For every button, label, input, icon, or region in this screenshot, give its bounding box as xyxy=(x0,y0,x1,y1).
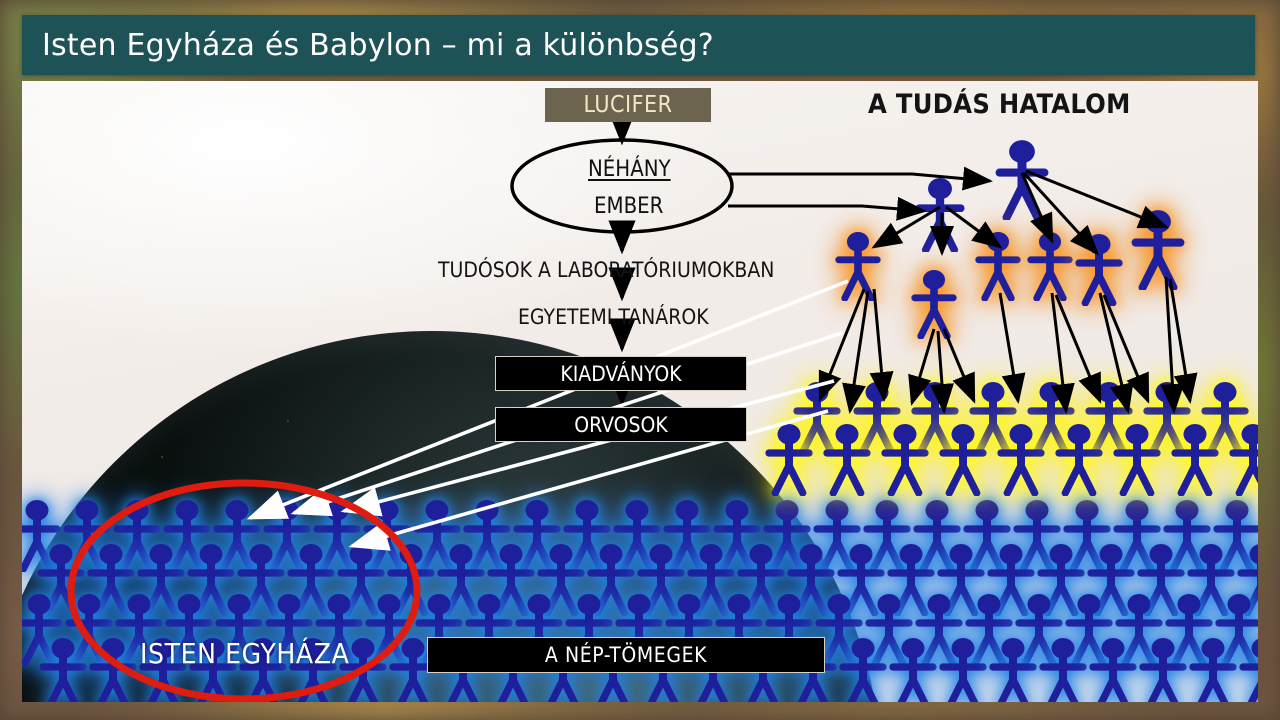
page-title: Isten Egyháza és Babylon – mi a különbsé… xyxy=(22,28,714,63)
church-of-god-label: ISTEN EGYHÁZA xyxy=(140,637,349,670)
professors-label: EGYETEMI TANÁROK xyxy=(518,305,709,329)
slide-screenshot: Isten Egyháza és Babylon – mi a különbsé… xyxy=(0,0,1280,720)
doctors-box: ORVOSOK xyxy=(495,407,747,442)
tier1-to-tier2-arrows xyxy=(1022,171,1166,253)
knowledge-is-power-heading: A TUDÁS HATALOM xyxy=(868,89,1131,120)
ember-label: EMBER xyxy=(594,194,663,219)
slide-content: LUCIFER A TUDÁS HATALOM NÉHÁNY EMBER TUD… xyxy=(22,81,1258,702)
scientists-label: TUDÓSOK A LABORATÓRIUMOKBAN xyxy=(438,258,774,282)
tier1b-to-tier2-arrows xyxy=(874,207,1000,253)
masses-box: A NÉP-TÖMEGEK xyxy=(427,637,825,673)
ellipse-to-hierarchy-arrows xyxy=(728,174,990,211)
publications-box: KIADVÁNYOK xyxy=(495,356,747,391)
lucifer-box: LUCIFER xyxy=(545,88,711,122)
nehany-label: NÉHÁNY xyxy=(588,157,671,182)
slide-title-bar: Isten Egyháza és Babylon – mi a különbsé… xyxy=(22,15,1255,75)
tier2-to-tier3-arrows xyxy=(820,277,1190,411)
